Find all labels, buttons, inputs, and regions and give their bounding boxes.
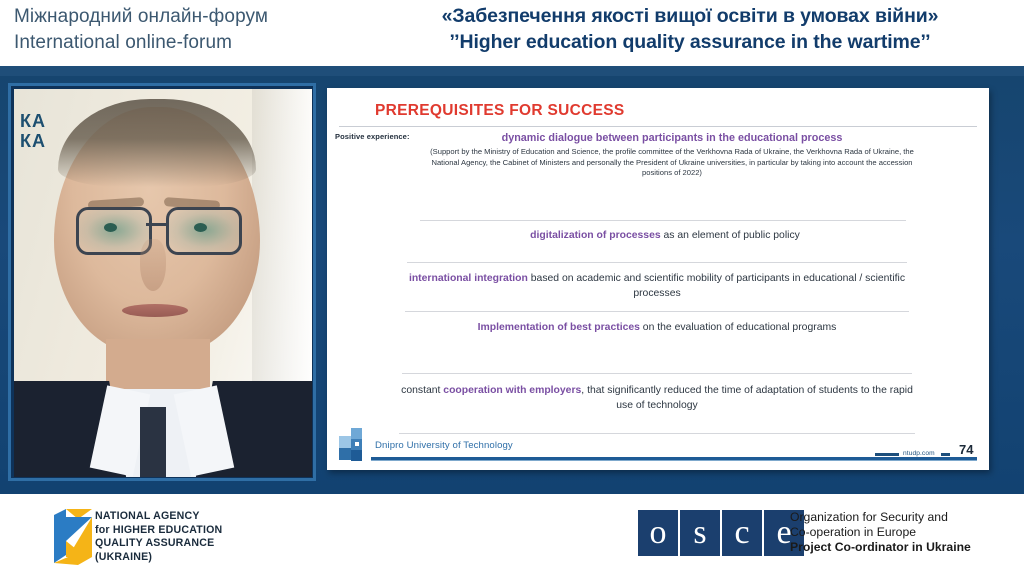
block-4: Implementation of best practices on the … (405, 322, 909, 333)
sponsor-bar: NATIONAL AGENCY for HIGHER EDUCATION QUA… (0, 494, 1024, 576)
slide-footer-university: Dnipro University of Technology (375, 440, 513, 451)
block-3-rest: based on academic and scientific mobilit… (528, 273, 905, 299)
forum-name-en: International online-forum (14, 30, 354, 56)
naqa-logo-text: NATIONAL AGENCY for HIGHER EDUCATION QUA… (95, 510, 222, 564)
slide-separator-2 (420, 220, 906, 221)
slide-separator-3 (407, 262, 907, 263)
naqa-line-4: (UKRAINE) (95, 551, 222, 565)
banner-line-2: КА (20, 131, 46, 151)
osce-letter-c: c (722, 510, 762, 556)
naqa-line-2: for HIGHER EDUCATION (95, 524, 222, 538)
glasses-bridge (146, 223, 166, 226)
forum-broadcast-screen: Міжнародний онлайн-форум International o… (0, 0, 1024, 576)
block-2-highlight: digitalization of processes (530, 230, 661, 241)
osce-letter-o: o (638, 510, 678, 556)
block-3: international integration based on acade… (407, 271, 907, 301)
osce-line-3: Project Co-ordinator in Ukraine (790, 540, 971, 555)
block-2: digitalization of processes as an elemen… (422, 230, 908, 241)
banner-line-1: КА (20, 111, 46, 131)
block-3-highlight: international integration (409, 273, 528, 284)
positive-experience-label: Positive experience: (335, 132, 410, 141)
slide-separator-6 (399, 433, 915, 434)
osce-line-1: Organization for Security and (790, 510, 971, 525)
speaker-jacket-center (140, 407, 166, 477)
block-5: constant cooperation with employers, tha… (399, 383, 915, 413)
naqa-line-1: NATIONAL AGENCY (95, 510, 222, 524)
slide-title-divider (339, 126, 977, 127)
slide-number: 74 (959, 442, 973, 457)
osce-logo-icon: o s c e (638, 510, 806, 556)
block-4-highlight: Implementation of best practices (478, 322, 640, 333)
forum-theme-en: ’’Higher education quality assurance in … (360, 29, 1020, 55)
speaker-nose (140, 239, 166, 291)
background-banner-text: КА КА (20, 111, 46, 151)
block-5-highlight: cooperation with employers (443, 385, 581, 396)
slide-footer-bar-light (371, 460, 977, 461)
osce-letter-s: s (680, 510, 720, 556)
eye-left (104, 223, 117, 232)
naqa-logo-icon (52, 507, 98, 567)
forum-name-uk: Міжнародний онлайн-форум (14, 4, 354, 30)
speaker-mouth (122, 304, 188, 317)
video-stream: КА КА (14, 89, 312, 477)
forum-theme-uk: «Забезпечення якості вищої освіти в умов… (360, 3, 1020, 29)
slide-title: PREREQUISITES FOR SUCCESS (375, 102, 625, 120)
slide-footer-website: ntudp.com (903, 450, 935, 457)
participant-video-tile[interactable]: КА КА (8, 83, 316, 481)
block-2-rest: as an element of public policy (661, 230, 800, 241)
header-bar: Міжнародний онлайн-форум International o… (0, 0, 1024, 66)
naqa-line-3: QUALITY ASSURANCE (95, 537, 222, 551)
osce-line-2: Co-operation in Europe (790, 525, 971, 540)
block-1-body: (Support by the Ministry of Education an… (427, 147, 917, 179)
footer-dash-left (875, 453, 899, 456)
block-1-heading: dynamic dialogue between participants in… (422, 132, 922, 144)
forum-name: Міжнародний онлайн-форум International o… (14, 4, 354, 56)
dnipro-university-logo-icon (339, 428, 369, 462)
slide-separator-5 (402, 373, 912, 374)
forum-theme: «Забезпечення якості вищої освіти в умов… (360, 3, 1020, 55)
block-4-rest: on the evaluation of educational program… (640, 322, 836, 333)
eye-right (194, 223, 207, 232)
header-divider (0, 66, 1024, 76)
block-5-prefix: constant (401, 385, 443, 396)
slide-separator-4 (405, 311, 909, 312)
footer-dash-right (941, 453, 950, 456)
shared-slide[interactable]: PREREQUISITES FOR SUCCESS Positive exper… (327, 88, 989, 470)
osce-logo-text: Organization for Security and Co-operati… (790, 510, 971, 554)
block-5-rest: , that significantly reduced the time of… (581, 385, 913, 411)
